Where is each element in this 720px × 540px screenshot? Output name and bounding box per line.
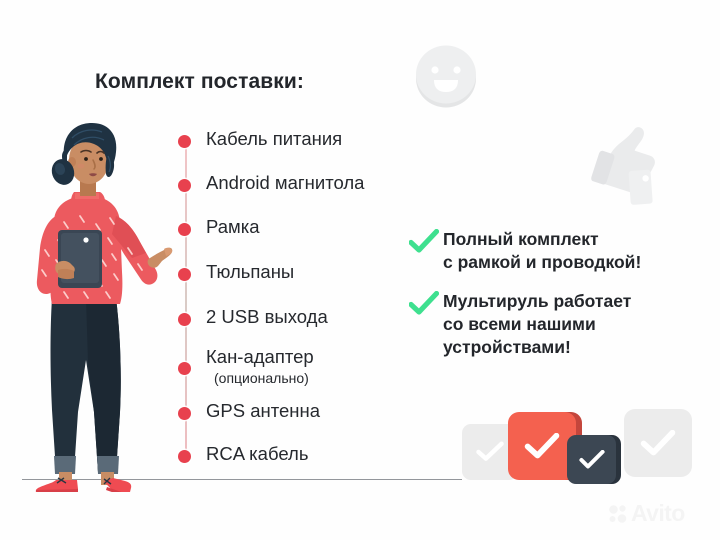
list-item-label: Рамка xyxy=(206,217,260,236)
woman-with-tablet-illustration xyxy=(12,112,182,492)
list-item-label: RCA кабель xyxy=(206,444,308,463)
list-item-label: Кан-адаптер xyxy=(206,347,314,366)
list-item-label: Тюльпаны xyxy=(206,262,294,281)
avito-logo-icon xyxy=(608,504,628,524)
watermark-text: Avito xyxy=(631,500,685,527)
feature-text: Полный комплект с рамкой и проводкой! xyxy=(443,228,641,275)
promo-image: Комплект поставки: Кабель питания Androi… xyxy=(0,0,720,540)
avito-watermark: Avito xyxy=(608,500,685,527)
feature-item: Полный комплект с рамкой и проводкой! xyxy=(409,228,641,275)
page-title: Комплект поставки: xyxy=(95,70,304,94)
feature-text: Мультируль работает со всеми нашими устр… xyxy=(443,290,641,360)
list-item-label: Android магнитола xyxy=(206,173,364,192)
checkbox-gray-right xyxy=(624,409,692,477)
list-item-label: Кабель питания xyxy=(206,129,342,148)
thumbs-up-icon xyxy=(578,118,670,210)
check-icon xyxy=(409,291,439,317)
checkbox-coral xyxy=(508,412,576,480)
feature-highlights: Полный комплект с рамкой и проводкой! Му… xyxy=(409,228,641,374)
list-item-label: 2 USB выхода xyxy=(206,307,328,326)
checkbox-cluster xyxy=(462,408,677,488)
list-item-sublabel: (опционально) xyxy=(214,370,309,386)
smiley-face-icon xyxy=(410,40,482,112)
list-item-label: GPS антенна xyxy=(206,401,320,420)
feature-item: Мультируль работает со всеми нашими устр… xyxy=(409,290,641,360)
check-icon xyxy=(409,229,439,255)
checkbox-dark xyxy=(567,435,616,484)
